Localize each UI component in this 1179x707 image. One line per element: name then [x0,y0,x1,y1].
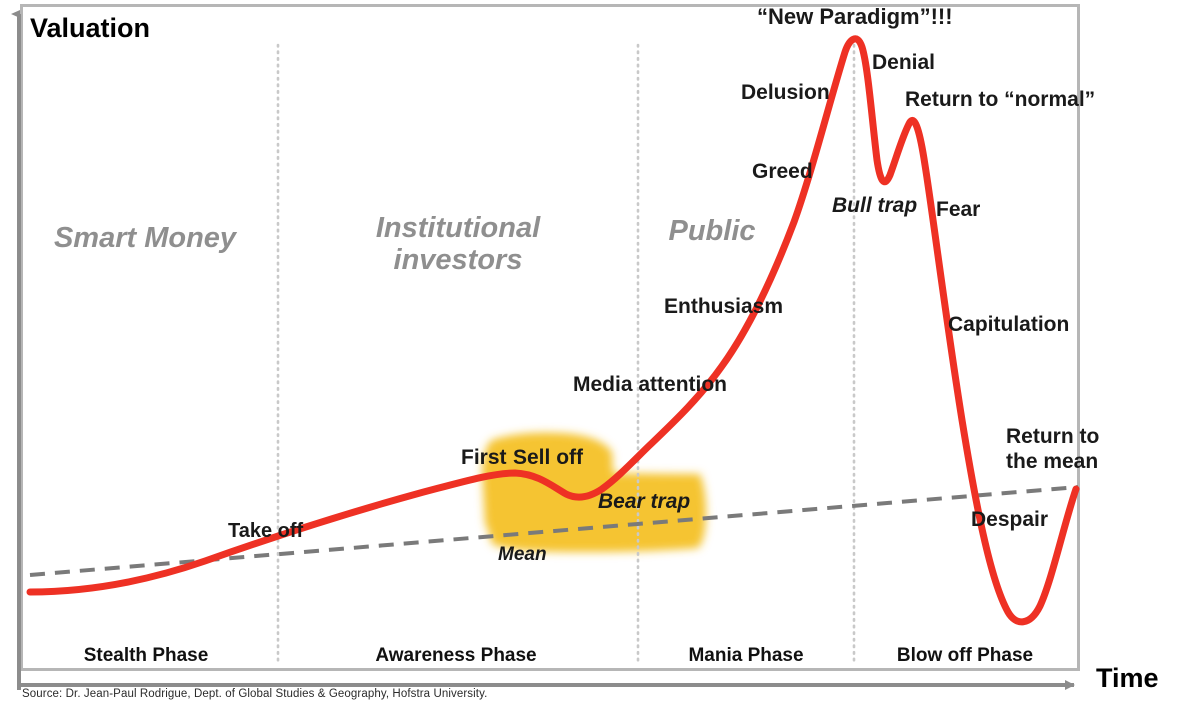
annotation-denial: Denial [872,51,935,75]
annotation-bull-trap: Bull trap [832,194,917,218]
annotation-return-to-the-mean-line-1: Return to [1006,425,1099,449]
actor-label-public: Public [668,215,755,247]
annotation-take-off: Take off [228,520,303,543]
annotation-despair: Despair [971,508,1048,532]
annotation-return-to-the-mean-line-2: the mean [1006,450,1098,474]
actor-label-line-2: investors [376,244,540,276]
source-credit: Source: Dr. Jean-Paul Rodrigue, Dept. of… [22,688,487,700]
bubble-chart-figure: Valuation Time Smart Money Institutional… [0,0,1179,707]
annotation-mean: Mean [498,544,547,566]
annotation-bear-trap: Bear trap [598,490,690,514]
actor-label-institutional-investors: Institutional investors [376,212,540,277]
annotation-enthusiasm: Enthusiasm [664,295,783,319]
phase-label-mania: Mania Phase [688,645,803,667]
annotation-sell-off: Sell off [513,446,583,470]
annotation-greed: Greed [752,160,813,184]
annotation-fear: Fear [936,198,980,222]
x-axis-label: Time [1096,663,1159,694]
annotation-first: First [461,446,507,470]
actor-label-line-1: Institutional [376,212,540,244]
phase-label-blow-off: Blow off Phase [897,645,1033,667]
annotation-return-to-normal: Return to “normal” [905,88,1095,112]
actor-label-smart-money: Smart Money [54,222,236,254]
annotation-media-attention: Media attention [573,373,727,397]
phase-label-stealth: Stealth Phase [84,645,209,667]
y-axis-label: Valuation [30,13,150,44]
annotation-new-paradigm: “New Paradigm”!!! [757,4,953,30]
annotation-capitulation: Capitulation [948,313,1069,337]
phase-label-awareness: Awareness Phase [375,645,536,667]
annotation-delusion: Delusion [741,81,830,105]
